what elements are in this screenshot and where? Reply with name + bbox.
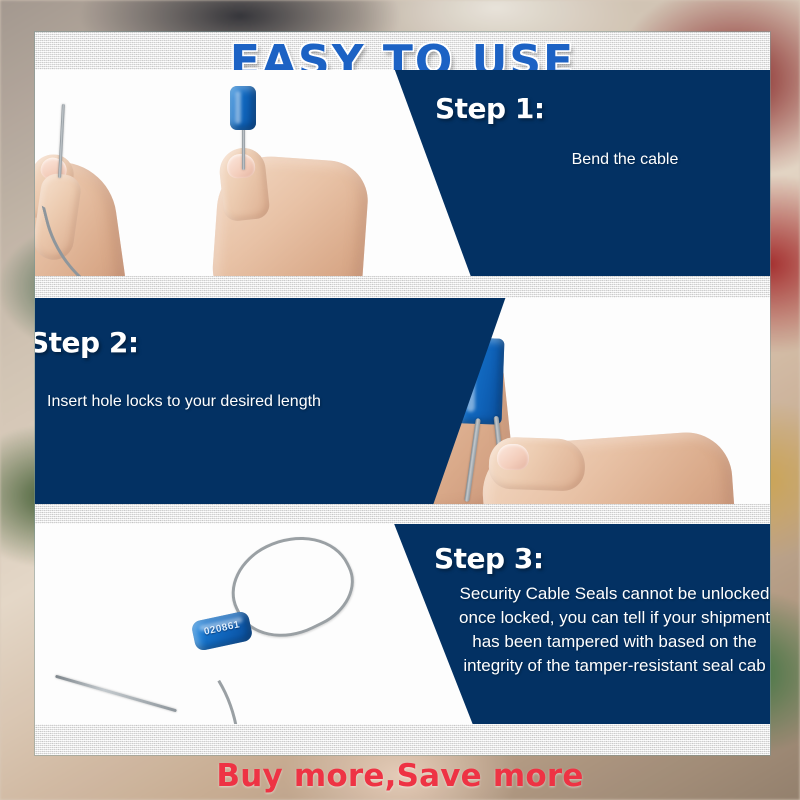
step-2-body: Insert hole locks to your desired length [47,390,437,413]
step-3-heading: Step 3: [434,542,544,575]
step-2-panel: Step 2: Insert hole locks to your desire… [35,298,515,504]
step-2-heading: Step 2: [35,326,139,359]
step-3-body-line: once locked, you can tell if your shipme… [417,606,770,630]
step-3-body-line: Security Cable Seals cannot be unlocked [417,582,770,606]
step-1-body: Bend the cable [490,148,760,171]
infographic-card: EASY TO USE [35,32,770,755]
divider-band-1 [35,274,770,298]
step-3-body-line: has been tampered with based on the [417,630,770,654]
guiding-finger-nail [497,444,529,470]
step-3-body: Security Cable Seals cannot be unlocked … [417,582,770,679]
infographic-stage: EASY TO USE [0,0,800,800]
promo-text: Buy more,Save more [0,752,800,800]
step-3-body-line: integrity of the tamper-resistant seal c… [417,654,770,678]
seal-highlight [235,91,241,124]
divider-band-3 [35,722,770,755]
step-3-row: 020861 Step 3: Security Cable Seals cann… [35,524,770,724]
step-1-heading: Step 1: [435,92,545,125]
cable-seal-body [230,86,256,130]
divider-band-2 [35,502,770,526]
step-1-row: Step 1: Bend the cable [35,70,770,276]
right-thumb-nail [226,153,256,179]
step-2-row: Step 2: Insert hole locks to your desire… [35,298,770,504]
